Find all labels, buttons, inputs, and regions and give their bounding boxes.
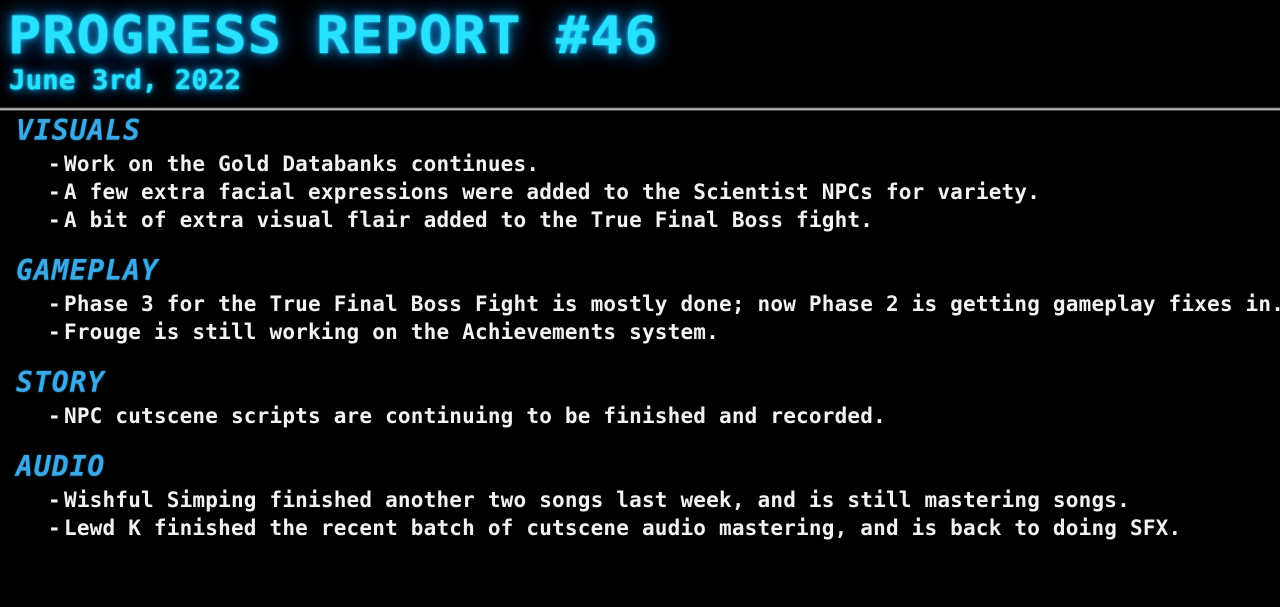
section-heading-visuals: VISUALS: [16, 114, 1280, 148]
section-audio: AUDIO Wishful Simping finished another t…: [0, 450, 1280, 542]
report-sections: VISUALS Work on the Gold Databanks conti…: [0, 114, 1280, 542]
bullet-list-audio: Wishful Simping finished another two son…: [0, 486, 1280, 542]
bullet-list-visuals: Work on the Gold Databanks continues. A …: [0, 150, 1280, 234]
list-item: Lewd K finished the recent batch of cuts…: [48, 514, 1280, 542]
section-heading-audio: AUDIO: [16, 450, 1280, 484]
section-heading-gameplay: GAMEPLAY: [16, 254, 1280, 288]
bullet-list-story: NPC cutscene scripts are continuing to b…: [0, 402, 1280, 430]
page-title: PROGRESS REPORT #46: [8, 6, 659, 66]
section-heading-story: STORY: [16, 366, 1280, 400]
progress-report-screen: PROGRESS REPORT #46 June 3rd, 2022 VISUA…: [0, 0, 1280, 607]
report-date: June 3rd, 2022: [9, 65, 241, 97]
list-item: A few extra facial expressions were adde…: [48, 178, 1280, 206]
list-item: A bit of extra visual flair added to the…: [48, 206, 1280, 234]
list-item: Phase 3 for the True Final Boss Fight is…: [48, 290, 1280, 318]
header-divider: [0, 107, 1280, 111]
section-visuals: VISUALS Work on the Gold Databanks conti…: [0, 114, 1280, 234]
bullet-list-gameplay: Phase 3 for the True Final Boss Fight is…: [0, 290, 1280, 346]
section-gameplay: GAMEPLAY Phase 3 for the True Final Boss…: [0, 254, 1280, 346]
report-header: PROGRESS REPORT #46 June 3rd, 2022: [0, 0, 1280, 108]
list-item: Frouge is still working on the Achieveme…: [48, 318, 1280, 346]
section-story: STORY NPC cutscene scripts are continuin…: [0, 366, 1280, 430]
list-item: Work on the Gold Databanks continues.: [48, 150, 1280, 178]
list-item: Wishful Simping finished another two son…: [48, 486, 1280, 514]
list-item: NPC cutscene scripts are continuing to b…: [48, 402, 1280, 430]
